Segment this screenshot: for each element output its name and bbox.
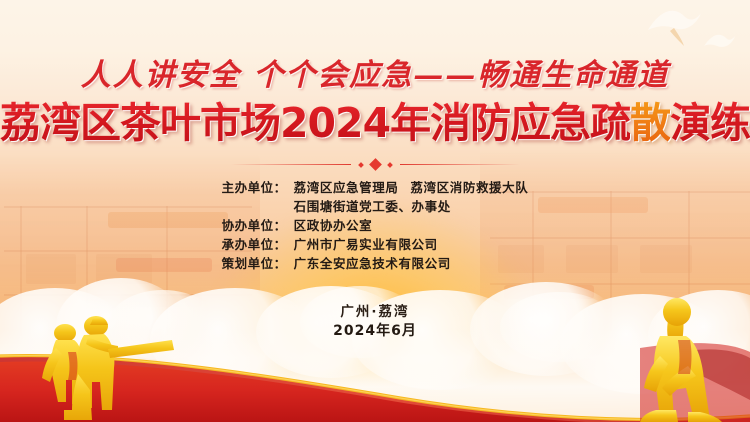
divider-ornament bbox=[0, 160, 750, 169]
divider-diamond-small-left bbox=[358, 162, 364, 168]
divider-diamond-small-right bbox=[387, 162, 393, 168]
divider-line-right bbox=[400, 164, 520, 166]
main-title-segment-1: 荔湾区茶叶市场2024年消防应 bbox=[0, 99, 550, 147]
poster-date: 2024年6月 bbox=[0, 320, 750, 340]
organizer-row: 主办单位： 荔湾区应急管理局荔湾区消防救援大队 bbox=[222, 178, 529, 197]
organizer-label: 承办单位： bbox=[222, 235, 294, 254]
poster-subtitle: 人人讲安全 个个会应急——畅通生命通道 bbox=[0, 50, 750, 94]
bird-decoration-icon bbox=[644, 4, 704, 48]
main-title-segment-4: 演练 bbox=[670, 99, 750, 147]
organizer-value: 荔湾区应急管理局荔湾区消防救援大队 bbox=[294, 178, 529, 197]
divider-line-left bbox=[231, 164, 351, 166]
organizer-label: 协办单位： bbox=[222, 216, 294, 235]
organizer-row: 协办单位： 区政协办公室 bbox=[222, 216, 529, 235]
organizer-row: 承办单位： 广州市广易实业有限公司 bbox=[222, 235, 529, 254]
organizer-value-a: 荔湾区应急管理局 bbox=[294, 180, 399, 195]
organizer-value: 广州市广易实业有限公司 bbox=[294, 235, 529, 254]
organizer-value: 广东全安应急技术有限公司 bbox=[294, 254, 529, 273]
organizer-label bbox=[222, 197, 294, 216]
divider-diamond-center bbox=[369, 158, 382, 171]
main-title-segment-2: 急疏 bbox=[550, 99, 630, 147]
organizer-block: 主办单位： 荔湾区应急管理局荔湾区消防救援大队 石围塘街道党工委、办事处 协办单… bbox=[0, 178, 750, 273]
organizer-value-b: 荔湾区消防救援大队 bbox=[410, 180, 528, 195]
organizer-value: 石围塘街道党工委、办事处 bbox=[294, 197, 529, 216]
poster-place: 广州·荔湾 bbox=[0, 300, 750, 320]
poster-main-title: 荔湾区茶叶市场2024年消防应急疏散演练 bbox=[0, 100, 750, 147]
organizer-row: 石围塘街道党工委、办事处 bbox=[222, 197, 529, 216]
organizer-label: 主办单位： bbox=[222, 178, 294, 197]
organizer-label: 策划单位： bbox=[222, 254, 294, 273]
fire-drill-poster: 人人讲安全 个个会应急——畅通生命通道 荔湾区茶叶市场2024年消防应急疏散演练… bbox=[0, 0, 750, 422]
main-title-segment-3: 散 bbox=[630, 99, 670, 147]
organizer-value: 区政协办公室 bbox=[294, 216, 529, 235]
organizer-row: 策划单位： 广东全安应急技术有限公司 bbox=[222, 254, 529, 273]
